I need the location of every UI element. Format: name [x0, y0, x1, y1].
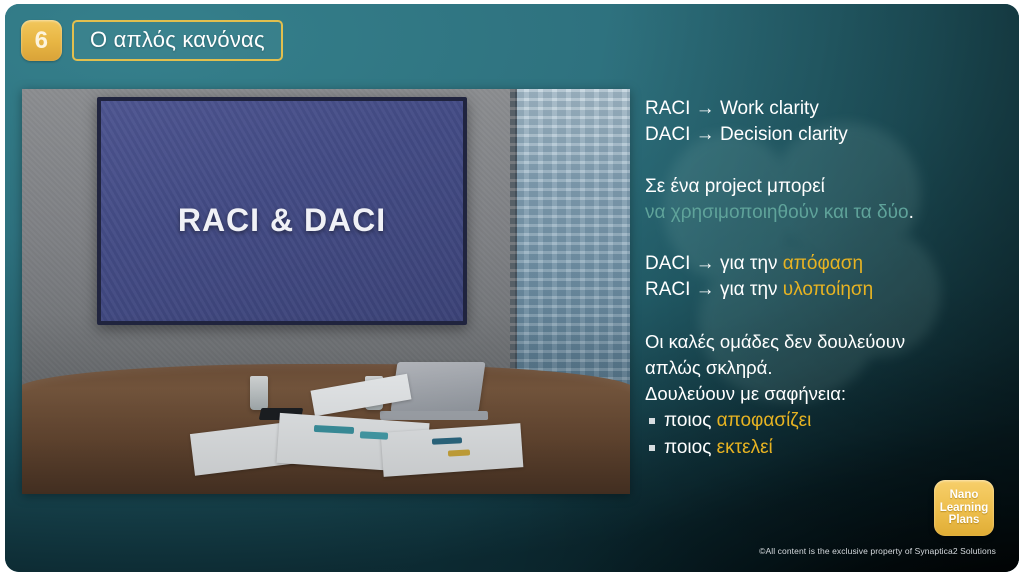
highlight-ylopoiisi: υλοποίηση	[783, 279, 873, 300]
text-line-not-just-hard: απλώς σκληρά.	[645, 355, 1017, 381]
logo-line-2: Learning	[940, 502, 989, 515]
text-line-good-teams: Οι καλές ομάδες δεν δουλεύουν	[645, 329, 1017, 355]
text-line-daci-decision: DACI → Decision clarity	[645, 122, 1017, 148]
slide-header: 6 Ο απλός κανόνας	[21, 20, 283, 61]
bullet-2-text: ποιος εκτελεί	[664, 434, 773, 461]
nano-learning-plans-logo: Nano Learning Plans	[934, 480, 994, 536]
text-line-daci-decision-gr: DACI → για την απόφαση	[645, 251, 1017, 277]
list-item: ποιος εκτελεί	[645, 434, 1017, 461]
highlight-ektelei: εκτελεί	[717, 437, 773, 458]
text-line-raci-execution-gr: RACI → για την υλοποίηση	[645, 277, 1017, 303]
spacer-3	[645, 303, 1017, 329]
bullet-2-prefix: ποιος	[664, 437, 717, 458]
daci-prefix: DACI → για την	[645, 253, 783, 274]
text-line-both-used: να χρησιμοποιηθούν και τα δύο.	[645, 200, 1017, 226]
spacer-2	[645, 226, 1017, 251]
text-line-project-intro: Σε ένα project μπορεί	[645, 174, 1017, 200]
page-title: Ο απλός κανόνας	[90, 29, 265, 51]
bullet-1-text: ποιος αποφασίζει	[664, 407, 811, 434]
slide-content-column: RACI → Work clarity DACI → Decision clar…	[645, 96, 1017, 461]
copyright-notice: ©All content is the exclusive property o…	[759, 546, 996, 556]
text-period: .	[909, 202, 914, 223]
logo-line-1: Nano	[950, 489, 979, 502]
spacer-1	[645, 148, 1017, 174]
meeting-photo: RACI & DACI	[22, 89, 630, 494]
text-line-raci-work: RACI → Work clarity	[645, 96, 1017, 122]
highlight-apofasizei: αποφασίζει	[717, 410, 812, 431]
logo-line-3: Plans	[949, 514, 980, 527]
square-bullet-icon	[649, 418, 655, 424]
bullet-1-prefix: ποιος	[664, 410, 717, 431]
presentation-slide: 6 Ο απλός κανόνας RACI & DACI	[5, 4, 1019, 572]
slide-title-box: Ο απλός κανόνας	[72, 20, 283, 61]
list-item: ποιος αποφασίζει	[645, 407, 1017, 434]
text-line-work-with-clarity: Δουλεύουν με σαφήνεια:	[645, 381, 1017, 407]
square-bullet-icon	[649, 445, 655, 451]
board-text: RACI & DACI	[178, 202, 386, 239]
photo-shadow-overlay	[22, 89, 630, 494]
highlight-both-used: να χρησιμοποιηθούν και τα δύο	[645, 202, 909, 223]
highlight-apofasi: απόφαση	[783, 253, 863, 274]
slide-number-badge: 6	[21, 20, 62, 61]
raci-prefix: RACI → για την	[645, 279, 783, 300]
